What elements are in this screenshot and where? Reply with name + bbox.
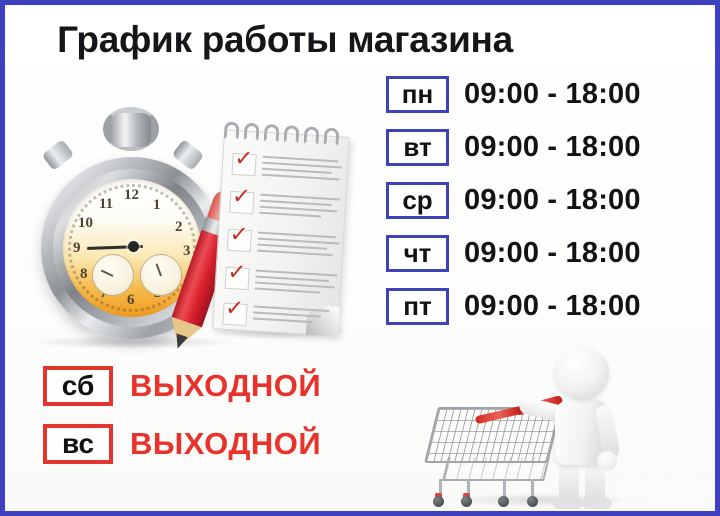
check-icon: ✓ bbox=[225, 299, 245, 320]
checklist-lines bbox=[259, 194, 340, 223]
spiral-ring bbox=[264, 124, 280, 143]
schedule-row-thu: чт 09:00 - 18:00 bbox=[386, 232, 641, 274]
check-icon: ✓ bbox=[231, 187, 251, 208]
hours-wed: 09:00 - 18:00 bbox=[464, 184, 641, 217]
checkbox: ✓ bbox=[231, 153, 256, 176]
stopwatch-left-button bbox=[42, 139, 75, 171]
day-badge-fri: пт bbox=[386, 288, 449, 325]
checklist-lines bbox=[261, 156, 342, 185]
hours-fri: 09:00 - 18:00 bbox=[464, 290, 641, 323]
shopper-head bbox=[555, 347, 609, 399]
schedule-row-fri: пт 09:00 - 18:00 bbox=[386, 285, 641, 327]
hours-mon: 09:00 - 18:00 bbox=[464, 78, 641, 111]
day-badge-tue: вт bbox=[386, 129, 449, 166]
checkbox: ✓ bbox=[224, 267, 249, 290]
cart-wheel bbox=[498, 496, 509, 507]
shopper-right-hand bbox=[597, 451, 617, 471]
poster-canvas: График работы магазина 12 1 2 3 4 5 6 7 … bbox=[5, 5, 715, 511]
day-badge-mon: пн bbox=[386, 76, 449, 113]
spiral-ring bbox=[284, 125, 300, 144]
stopwatch-center-pin bbox=[128, 241, 139, 252]
checklist-lines bbox=[257, 232, 340, 261]
status-sat: ВЫХОДНОЙ bbox=[130, 368, 321, 404]
check-icon: ✓ bbox=[229, 225, 249, 246]
shopper-right-foot bbox=[582, 498, 612, 509]
avito-watermark-text: Avito bbox=[648, 474, 707, 503]
spiral-ring bbox=[244, 123, 260, 142]
schedule-poster: График работы магазина 12 1 2 3 4 5 6 7 … bbox=[0, 0, 720, 516]
dial-number-11: 11 bbox=[99, 196, 113, 213]
page-title: График работы магазина bbox=[5, 19, 565, 61]
dial-number-9: 9 bbox=[73, 240, 81, 257]
day-badge-sat: сб bbox=[43, 366, 113, 406]
cart-lower-tray bbox=[442, 457, 550, 481]
cart-wheel bbox=[433, 496, 444, 507]
schedule-row-mon: пн 09:00 - 18:00 bbox=[386, 73, 641, 115]
stopwatch-subdial-left bbox=[92, 254, 134, 296]
checkbox: ✓ bbox=[229, 191, 254, 214]
dial-number-8: 8 bbox=[80, 266, 88, 283]
dial-number-10: 10 bbox=[78, 215, 93, 232]
spiral-ring bbox=[323, 127, 339, 146]
status-sun: ВЫХОДНОЙ bbox=[130, 426, 321, 462]
checklist-lines bbox=[252, 305, 329, 328]
stopwatch-right-button bbox=[172, 139, 205, 171]
shopper-left-foot bbox=[553, 498, 583, 509]
dial-number-1: 1 bbox=[153, 197, 161, 214]
cart-wheel bbox=[461, 496, 472, 507]
schedule-row-sun: вс ВЫХОДНОЙ bbox=[43, 421, 321, 467]
cart-wheel bbox=[527, 496, 538, 507]
spiral-ring bbox=[303, 126, 319, 145]
day-badge-wed: ср bbox=[386, 182, 449, 219]
hours-thu: 09:00 - 18:00 bbox=[464, 237, 641, 270]
checklist-lines bbox=[254, 270, 337, 299]
schedule-row-sat: сб ВЫХОДНОЙ bbox=[43, 363, 321, 409]
spiral-ring bbox=[224, 121, 240, 140]
schedule-row-tue: вт 09:00 - 18:00 bbox=[386, 126, 641, 168]
weekday-schedule-list: пн 09:00 - 18:00 вт 09:00 - 18:00 ср 09:… bbox=[386, 73, 641, 338]
check-icon: ✓ bbox=[234, 149, 254, 170]
checklist-notepad-illustration: ✓ ✓ ✓ ✓ ✓ bbox=[210, 123, 355, 343]
weekend-schedule-list: сб ВЫХОДНОЙ вс ВЫХОДНОЙ bbox=[43, 363, 321, 479]
schedule-row-wed: ср 09:00 - 18:00 bbox=[386, 179, 641, 221]
day-badge-thu: чт bbox=[386, 235, 449, 272]
dial-number-12: 12 bbox=[124, 187, 139, 204]
hours-tue: 09:00 - 18:00 bbox=[464, 131, 641, 164]
dial-number-2: 2 bbox=[175, 219, 183, 236]
check-icon: ✓ bbox=[227, 263, 247, 284]
dial-number-6: 6 bbox=[127, 292, 135, 309]
shopper-with-cart-illustration bbox=[437, 343, 637, 511]
notepad-page: ✓ ✓ ✓ ✓ ✓ bbox=[212, 129, 350, 336]
checkbox: ✓ bbox=[227, 229, 252, 252]
stopwatch-crown bbox=[111, 113, 151, 147]
day-badge-sun: вс bbox=[43, 424, 113, 464]
checkbox: ✓ bbox=[222, 303, 247, 326]
